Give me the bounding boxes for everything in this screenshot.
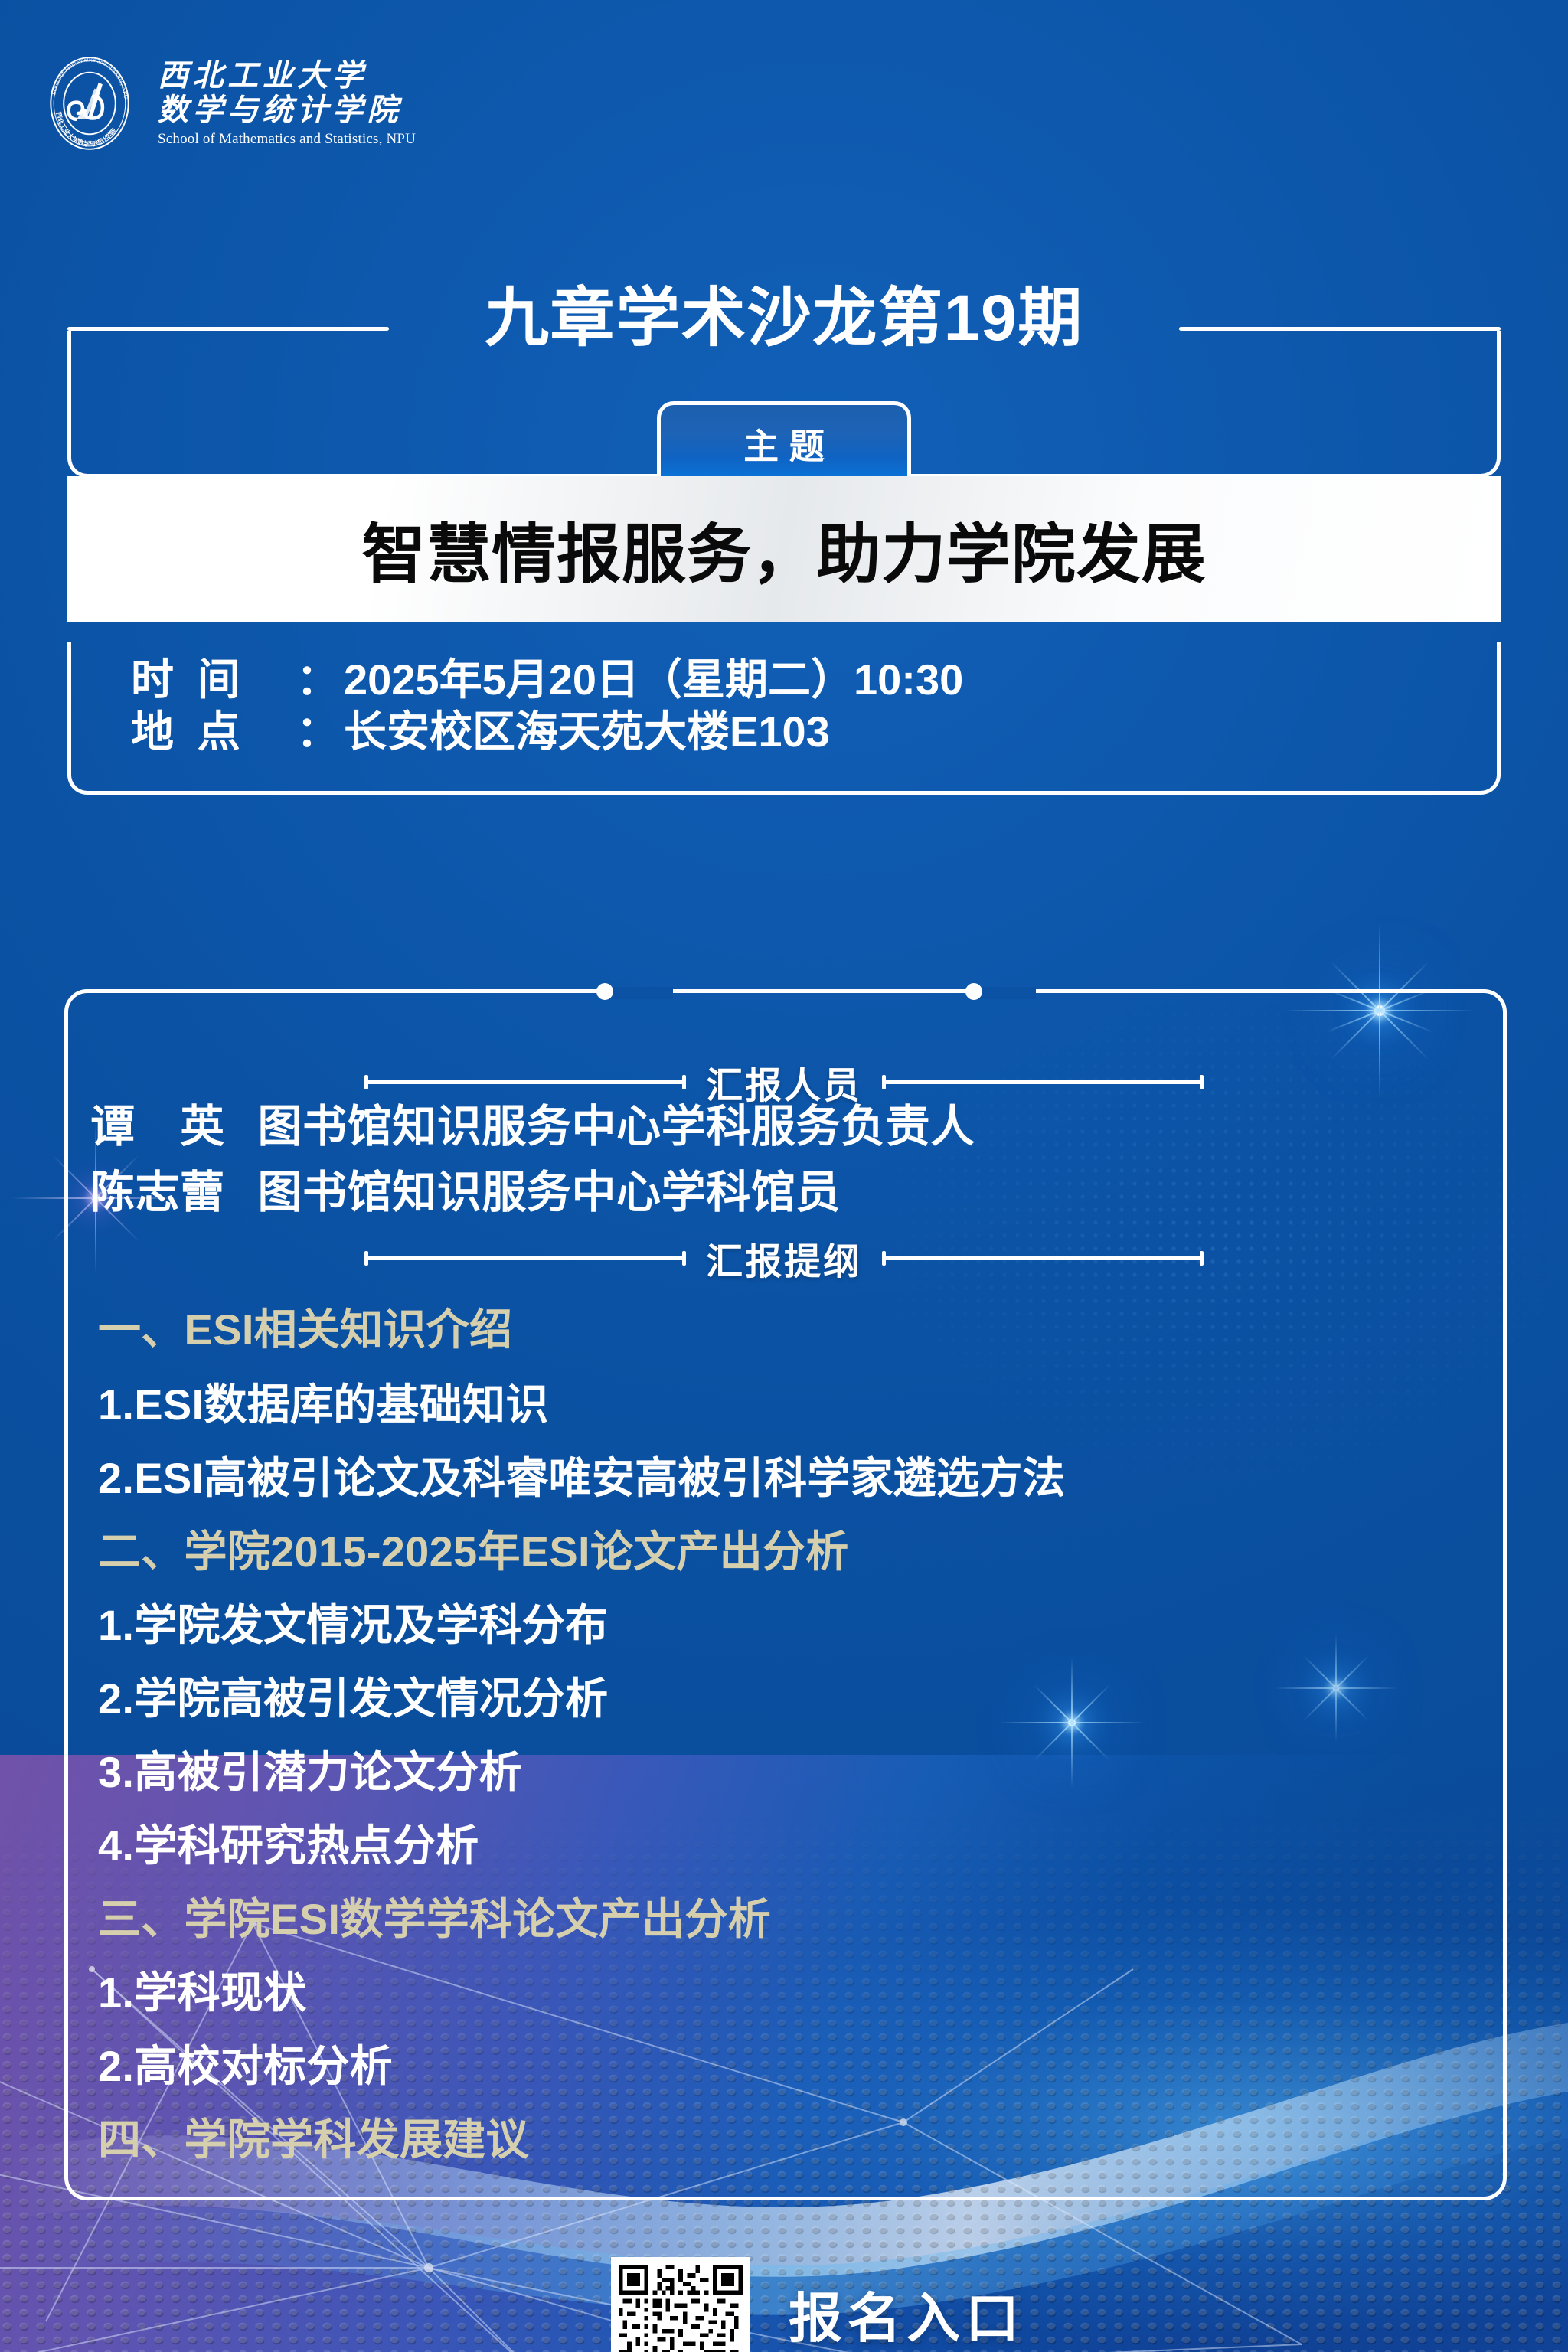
heading-rule-left: [364, 1080, 686, 1084]
svg-text:School of Mathematics and Stat: School of Mathematics and Statistics, NP…: [51, 56, 130, 100]
speaker-name: 谭 英: [90, 1090, 225, 1155]
brand-name-cn-line2: 数学与统计学院: [158, 93, 416, 126]
outline-item: 2.ESI高被引论文及科睿唯安高被引科学家遴选方法: [98, 1444, 1066, 1506]
speaker-row: 陈志蕾 图书馆知识服务中心学科馆员: [90, 1156, 841, 1220]
outline-item: 2.高校对标分析: [98, 2032, 393, 2094]
event-time-line: 时间 ： 2025年5月20日（星期二）10:30: [71, 654, 1497, 706]
speaker-row: 谭 英 图书馆知识服务中心学科服务负责人: [90, 1090, 975, 1155]
outline-item: 一、ESI相关知识介绍: [98, 1295, 512, 1357]
outline-item: 1.学科现状: [98, 1958, 306, 2020]
outline-item: 4.学科研究热点分析: [98, 1811, 479, 1873]
outline-item: 2.学院高被引发文情况分析: [98, 1664, 608, 1726]
outline-heading-row: 汇报提纲: [0, 1231, 1568, 1285]
qr-code[interactable]: [611, 2257, 750, 2352]
event-info-box: 时间 ： 2025年5月20日（星期二）10:30 地点 ： 长安校区海天苑大楼…: [67, 642, 1501, 795]
theme-text: 智慧情报服务，助力学院发展: [362, 503, 1207, 596]
qr-code-icon: [619, 2265, 743, 2352]
heading-rule-right: [882, 1080, 1204, 1084]
outline-item: 四、学院学科发展建议: [98, 2105, 529, 2167]
npu-seal-icon: School of Mathematics and Statistics, NP…: [40, 54, 139, 153]
panel-dot: [965, 983, 982, 1000]
outline-item: 1.ESI数据库的基础知识: [98, 1370, 549, 1432]
speaker-name: 陈志蕾: [90, 1156, 225, 1220]
topic-tab: 主题: [657, 401, 911, 478]
heading-rule-left: [364, 1256, 686, 1260]
speaker-role: 图书馆知识服务中心学科服务负责人: [257, 1102, 975, 1151]
signup-label: 报名入口: [789, 2275, 1024, 2352]
outline-item: 3.高被引潜力论文分析: [98, 1738, 522, 1800]
outline-item: 三、学院ESI数学学科论文产出分析: [98, 1885, 771, 1947]
topic-tab-label: 主题: [657, 401, 911, 478]
event-place-line: 地点 ： 长安校区海天苑大楼E103: [71, 706, 1497, 758]
event-place-value: 长安校区海天苑大楼E103: [344, 706, 830, 758]
event-time-value: 2025年5月20日（星期二）10:30: [344, 654, 963, 706]
heading-rule-right: [882, 1256, 1204, 1260]
outline-item: 1.学院发文情况及学科分布: [98, 1591, 608, 1653]
outline-heading: 汇报提纲: [706, 1231, 862, 1285]
poster-root: School of Mathematics and Statistics, NP…: [0, 0, 1568, 2352]
theme-band: 智慧情报服务，助力学院发展: [67, 476, 1501, 622]
outline-item: 二、学院2015-2025年ESI论文产出分析: [98, 1517, 849, 1579]
brand-logo: School of Mathematics and Statistics, NP…: [40, 54, 416, 153]
page-title: 九章学术沙龙第19期: [0, 266, 1568, 359]
panel-dot: [596, 983, 613, 1000]
speaker-role: 图书馆知识服务中心学科馆员: [257, 1168, 841, 1217]
event-place-label: 地点: [131, 706, 296, 758]
brand-name-en: School of Mathematics and Statistics, NP…: [158, 131, 416, 148]
brand-name-cn-line1: 西北工业大学: [158, 59, 416, 92]
event-time-label: 时间: [131, 654, 296, 706]
